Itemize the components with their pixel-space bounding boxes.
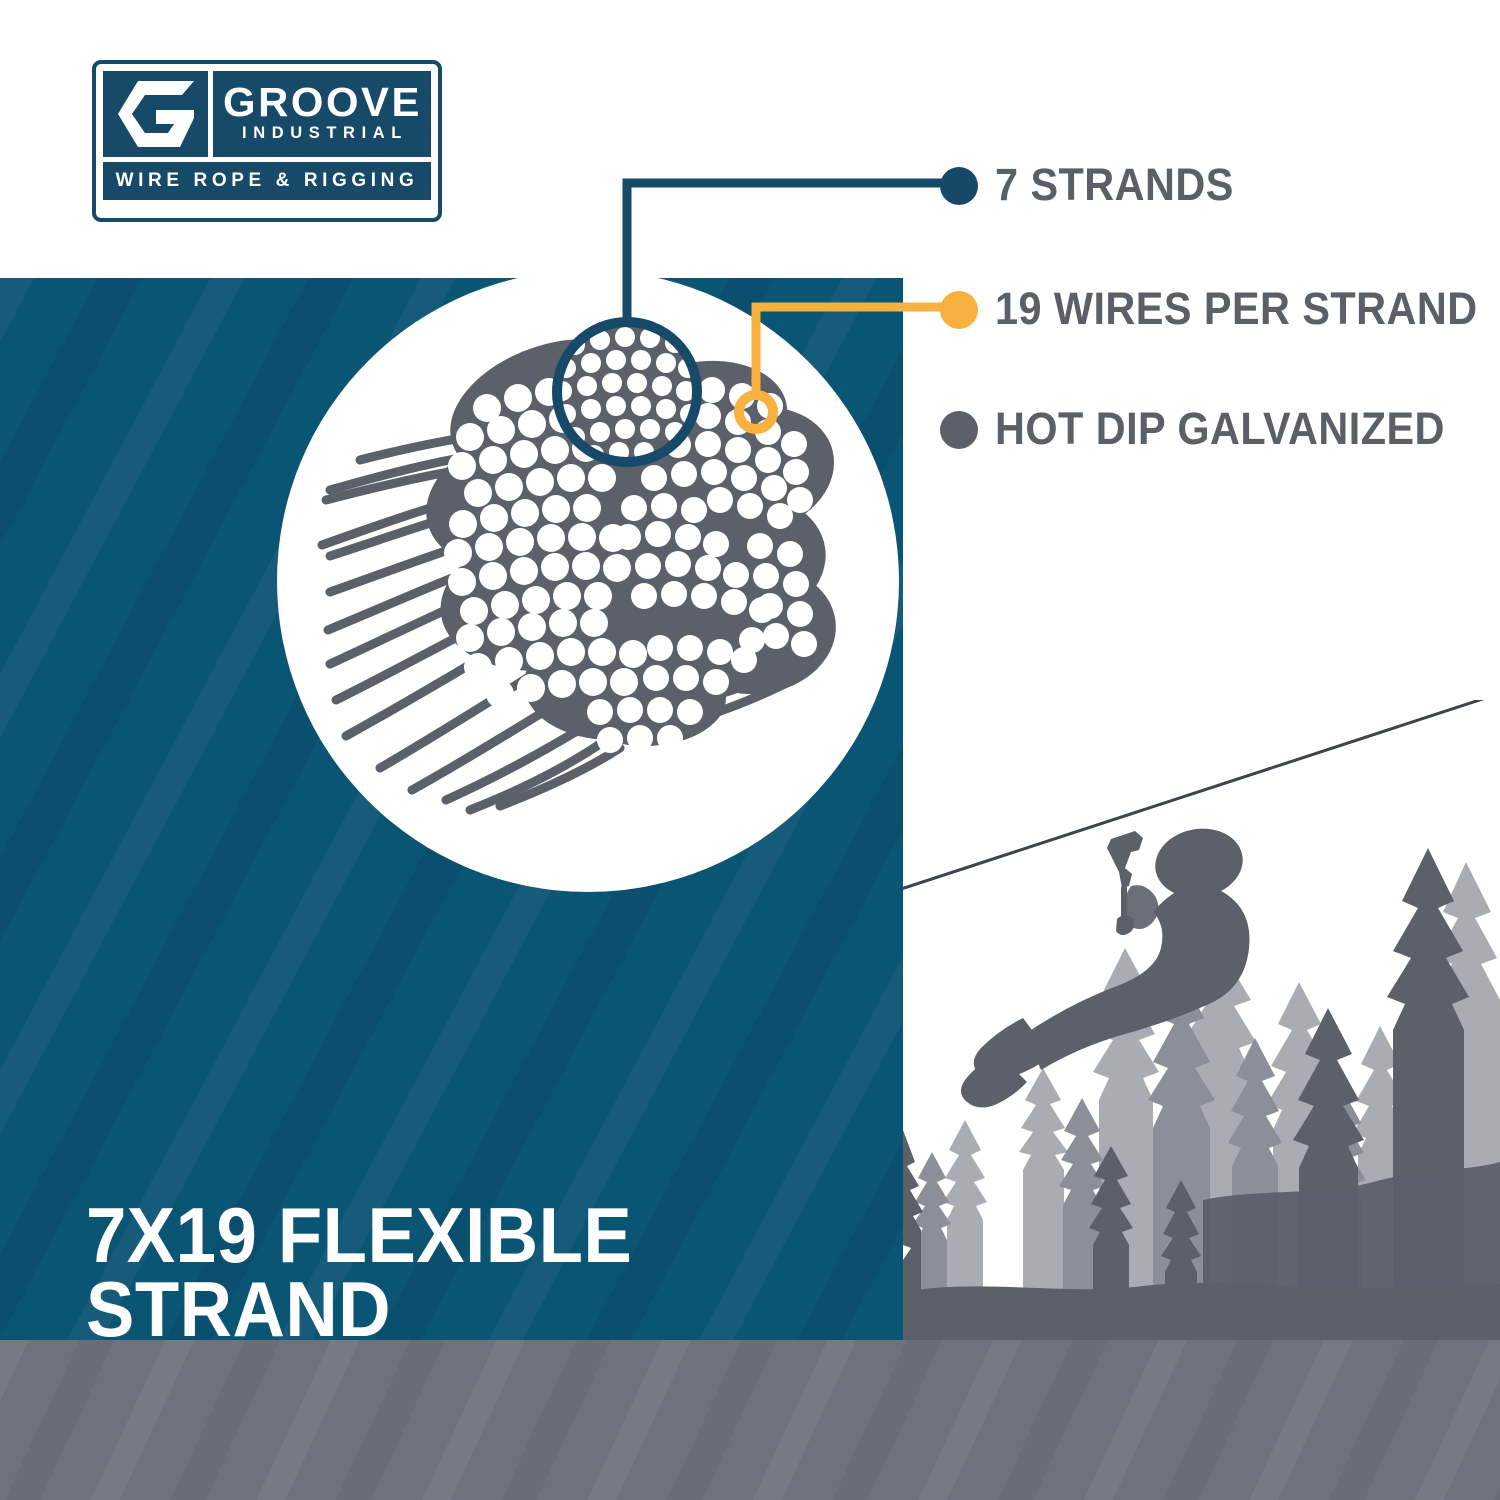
- brand-subtitle: INDUSTRIAL: [236, 123, 408, 144]
- groove-g-monogram-icon: [103, 71, 208, 157]
- page-title: 7X19 FLEXIBLE STRAND CONSTRUCTION: [86, 1198, 821, 1340]
- logo-top-row: GROOVE INDUSTRIAL: [103, 71, 431, 157]
- bottom-gray-band: [0, 1340, 1500, 1500]
- logo-wordmark: GROOVE INDUSTRIAL: [213, 71, 431, 157]
- zipline-forest-scene: [903, 700, 1500, 1340]
- headline-line-2: STRAND CONSTRUCTION: [86, 1272, 821, 1340]
- infographic-root: 7X19 FLEXIBLE STRAND CONSTRUCTION Our ai…: [0, 0, 1500, 1500]
- brand-name: GROOVE: [223, 83, 422, 122]
- callout-label-strands: 7 STRANDS: [995, 159, 1234, 211]
- brand-logo[interactable]: GROOVE INDUSTRIAL WIRE ROPE & RIGGING: [92, 60, 442, 222]
- callout-label-wires: 19 WIRES PER STRAND: [995, 283, 1478, 335]
- callout-label-galvanized: HOT DIP GALVANIZED: [995, 403, 1445, 455]
- logo-tagline-bar: WIRE ROPE & RIGGING: [103, 162, 431, 200]
- bullet-dot-gray-icon: [940, 411, 978, 449]
- brand-tagline: WIRE ROPE & RIGGING: [116, 170, 419, 192]
- bullet-dot-navy-icon: [940, 167, 978, 205]
- bullet-dot-amber-icon: [940, 291, 978, 329]
